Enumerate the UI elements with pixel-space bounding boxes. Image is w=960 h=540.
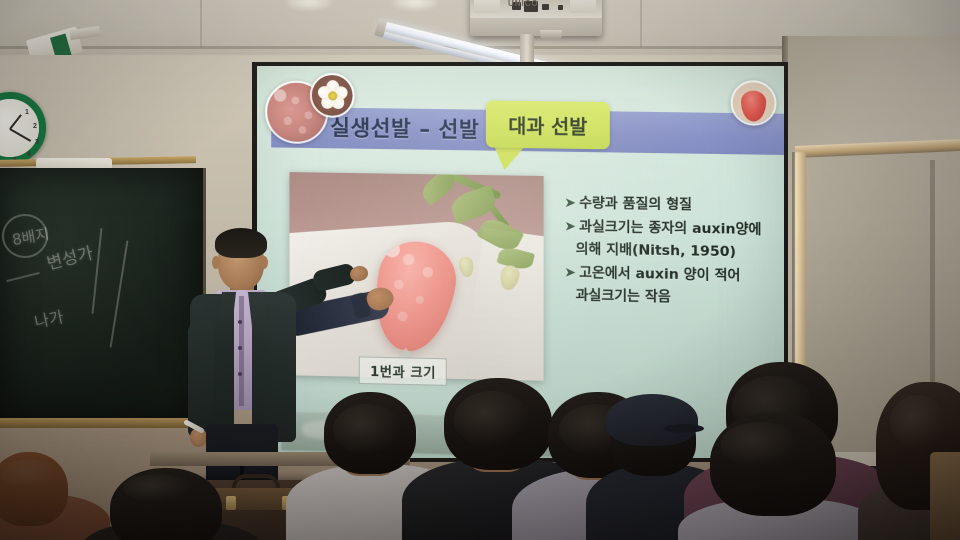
ceiling-tile-line xyxy=(200,0,202,48)
ceiling-tile-line xyxy=(640,0,642,48)
caption-pointer xyxy=(399,347,413,357)
student-front-center xyxy=(96,468,246,540)
bullet-item: ➤수량과 품질의 형질 xyxy=(564,193,784,218)
clock-tick: 2 xyxy=(33,123,37,130)
presenter-lowered-arm xyxy=(188,320,214,438)
shirt-button xyxy=(238,346,242,350)
callout-label: 대과 선발 xyxy=(486,100,610,149)
bullet-item-continuation: 의해 지배(Nitsh, 1950) xyxy=(564,239,784,264)
callout-bubble: 대과 선발 xyxy=(486,100,610,149)
clock-tick: 3 xyxy=(35,139,39,146)
bullet-marker: ➤ xyxy=(564,264,576,281)
student-front-left xyxy=(0,452,100,540)
projector-brand-label: UNICO xyxy=(508,0,539,8)
presenter-ear xyxy=(260,256,268,269)
callout-tail xyxy=(494,146,525,171)
bullet-text: 과실크기는 종자의 auxin양에 xyxy=(579,218,761,238)
projector-mount xyxy=(520,34,534,64)
bullet-marker: ➤ xyxy=(564,195,576,212)
bullet-text: 고온에서 auxin 양이 적어 xyxy=(579,264,740,283)
strawberry-fruit-icon xyxy=(731,80,777,126)
projector-lens xyxy=(540,30,562,39)
clock-tick: 4 xyxy=(27,151,31,158)
presenter-hair xyxy=(215,228,267,258)
baseball-cap xyxy=(606,394,698,446)
clock-tick: 1 xyxy=(25,109,29,116)
shirt-button xyxy=(238,372,242,376)
slide-bullet-list: ➤수량과 품질의 형질 ➤과실크기는 종자의 auxin양에 의해 지배(Nit… xyxy=(564,193,784,313)
bullet-item-continuation: 과실크기는 작음 xyxy=(564,285,784,311)
presenter-shirt-placket xyxy=(239,296,244,406)
shirt-button xyxy=(238,320,242,324)
slide-title: 실생선발 – 선발 xyxy=(330,112,479,145)
bullet-item: ➤과실크기는 종자의 auxin양에 xyxy=(564,216,784,241)
strawberry-flower-icon xyxy=(310,73,355,118)
presenter-ear xyxy=(212,256,220,269)
bullet-marker: ➤ xyxy=(564,218,576,235)
bullet-text: 의해 지배(Nitsh, 1950) xyxy=(576,241,736,260)
student-front-right xyxy=(690,412,860,540)
classroom-scene: 1 2 3 4 5 8배지 변성가 나가 UNICO xyxy=(0,0,960,540)
ceiling-projector: UNICO xyxy=(470,0,602,36)
bullet-text: 수량과 품질의 형질 xyxy=(579,195,692,213)
chair-back xyxy=(930,452,960,540)
bullet-text: 과실크기는 작음 xyxy=(576,287,671,305)
bullet-item: ➤고온에서 auxin 양이 적어 xyxy=(564,262,784,287)
